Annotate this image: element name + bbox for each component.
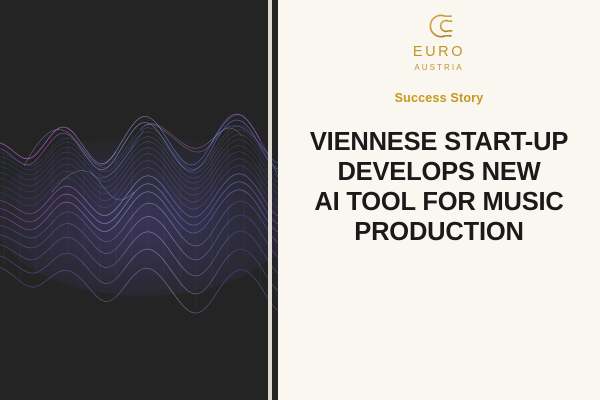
content-panel: EURO AUSTRIA Success Story VIENNESE STAR… [278, 0, 600, 400]
page-title: VIENNESE START-UP DEVELOPS NEW AI TOOL F… [284, 127, 594, 247]
logo-wordmark: EURO [413, 45, 465, 60]
logo-submark: AUSTRIA [414, 64, 463, 72]
headline-line-3: AI TOOL FOR MUSIC [284, 187, 594, 217]
panel-divider-stripe [268, 0, 272, 400]
headline-line-1: VIENNESE START-UP [284, 127, 594, 157]
headline-line-2: DEVELOPS NEW [284, 157, 594, 187]
eyebrow-label: Success Story [278, 91, 600, 105]
audio-waveform-mesh [0, 0, 278, 400]
euro-austria-logo[interactable]: EURO AUSTRIA [278, 12, 600, 72]
visual-panel [0, 0, 278, 400]
headline-line-4: PRODUCTION [284, 217, 594, 247]
success-story-slide: EURO AUSTRIA Success Story VIENNESE STAR… [0, 0, 600, 400]
cc-monogram-icon [418, 12, 460, 40]
